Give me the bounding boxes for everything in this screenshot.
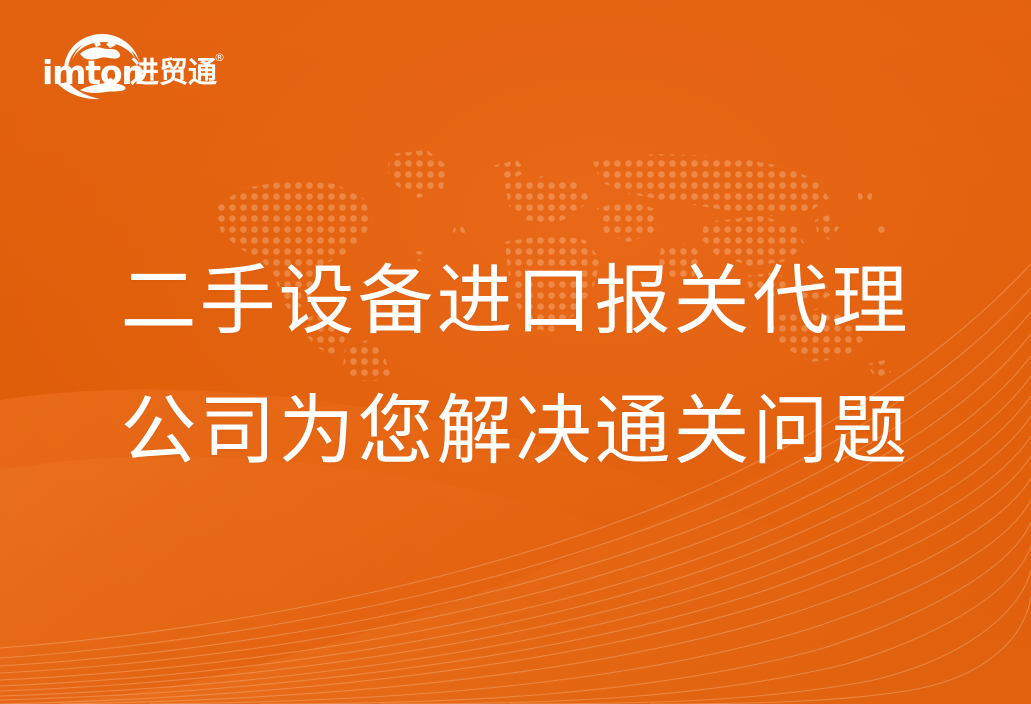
- headline-block: 二手设备进口报关代理 公司为您解决通关问题: [0, 236, 1031, 496]
- registered-trademark-icon: ®: [214, 52, 225, 63]
- brand-logo[interactable]: imton 进贸通 ®: [42, 28, 222, 100]
- logo-wordmark: imton: [42, 56, 144, 89]
- headline-line-1: 二手设备进口报关代理: [0, 236, 1031, 366]
- headline-line-2: 公司为您解决通关问题: [0, 366, 1031, 496]
- logo-chinese-name: 进贸通: [130, 58, 217, 87]
- promo-banner: imton 进贸通 ® 二手设备进口报关代理 公司为您解决通关问题: [0, 0, 1031, 704]
